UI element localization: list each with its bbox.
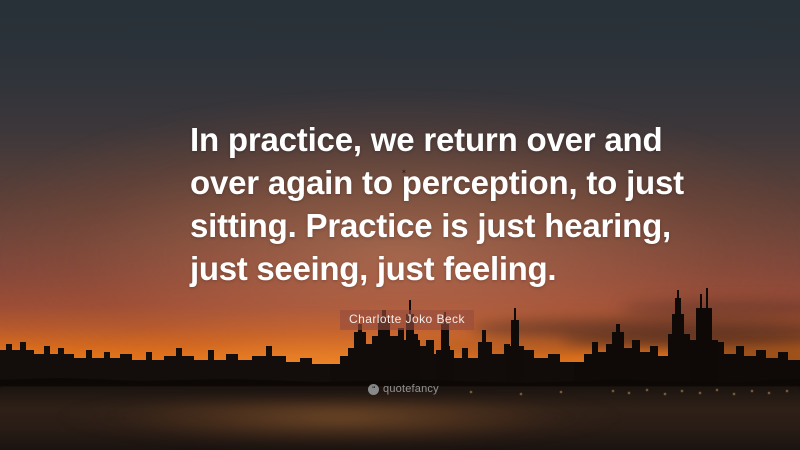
city-skyline-silhouette [0,284,800,394]
quote-text: In practice, we return over and over aga… [190,118,630,290]
author-attribution: Charlotte Joko Beck [340,310,474,330]
quote-line: sitting. Practice is just hearing, [190,204,630,247]
quote-line: over again to perception, to just [190,161,630,204]
quote-line: just seeing, just feeling. [190,247,630,290]
water-surface [0,388,800,450]
quote-mark-icon: “ [368,384,379,395]
watermark-brand: quotefancy [383,384,439,395]
quote-poster: ✶ In practice, we re [0,0,800,450]
water-reflection [40,400,664,446]
watermark[interactable]: “ quotefancy [368,384,439,395]
quote-line: In practice, we return over and [190,118,630,161]
